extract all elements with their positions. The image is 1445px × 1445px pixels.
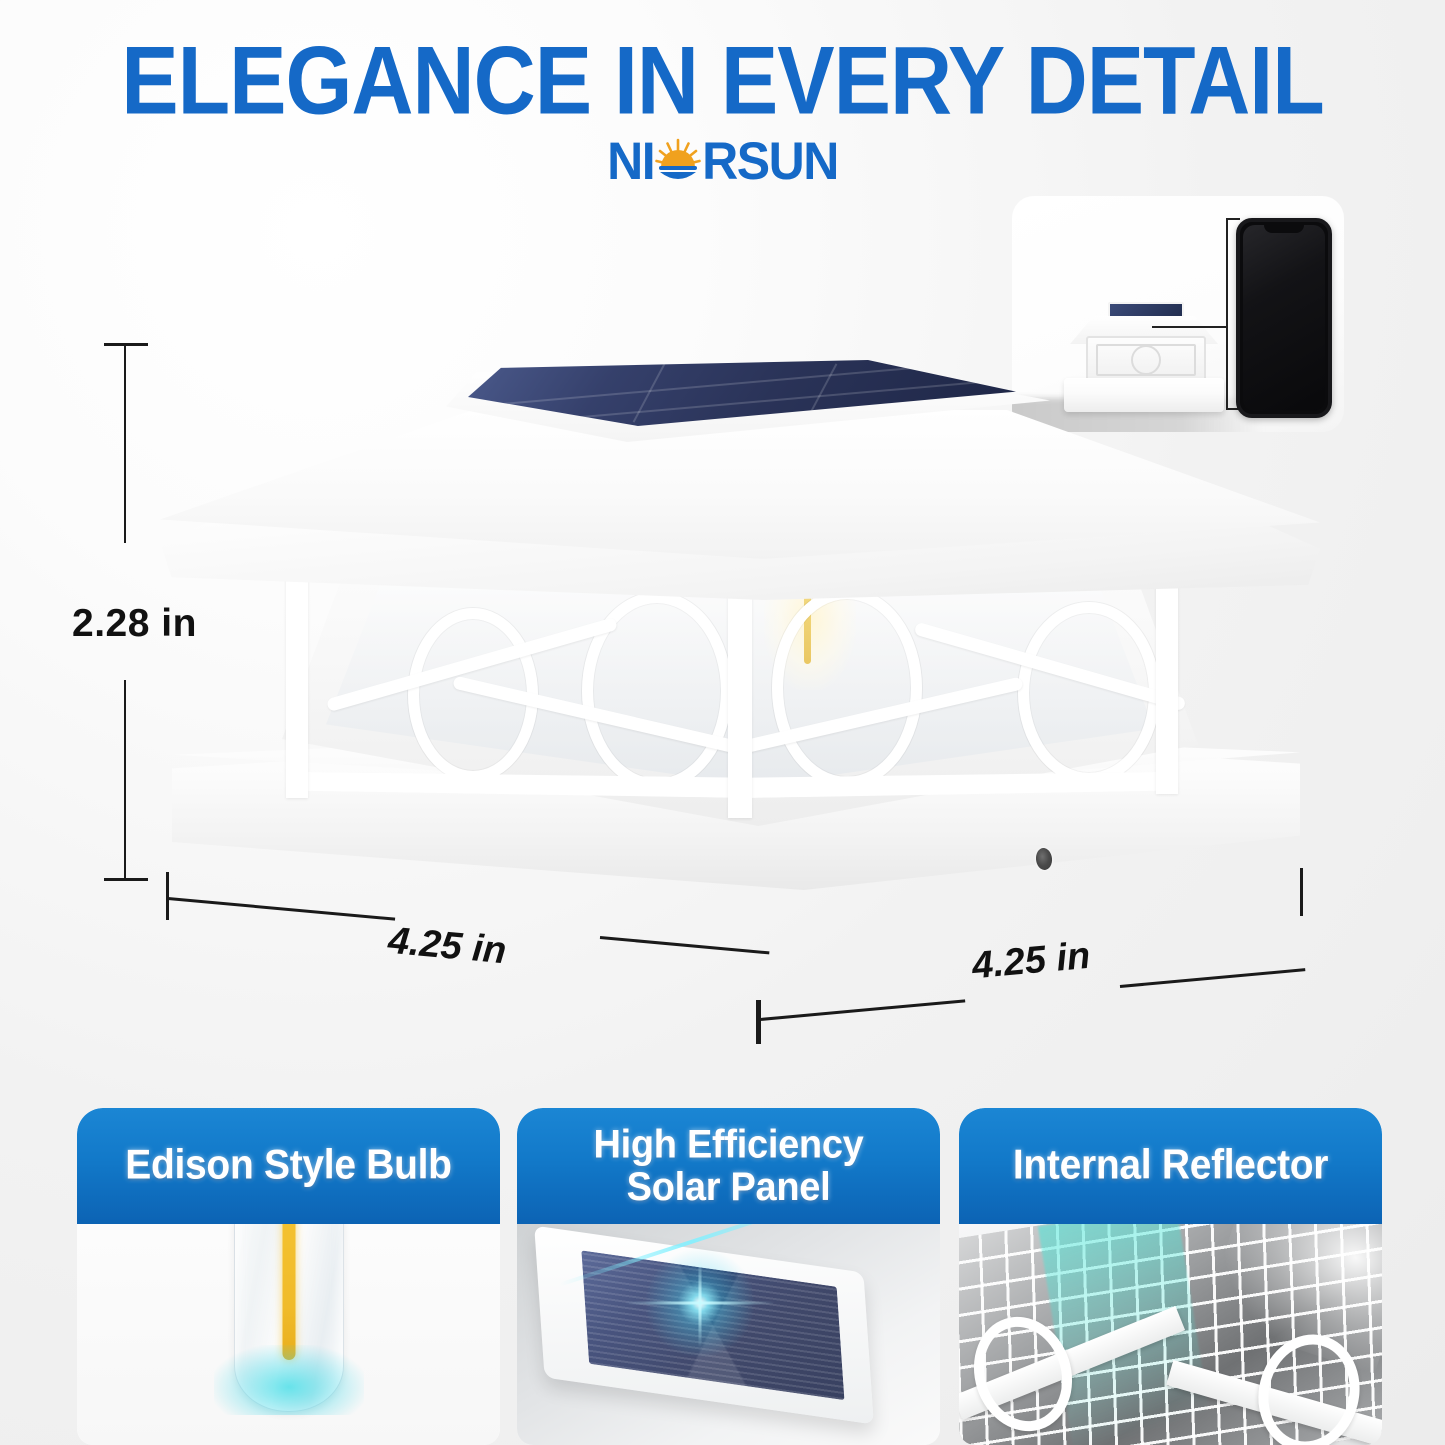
feature-title-line-1: High Efficiency [594, 1123, 864, 1166]
brand-logo: NI RSUN [0, 132, 1445, 190]
lattice-ring [772, 588, 922, 788]
feature-title-line-2: Solar Panel [594, 1166, 864, 1209]
height-dim-line-upper [124, 343, 126, 543]
bulb-filament-icon [282, 1224, 295, 1360]
feature-card-edison-style-bulb[interactable]: Edison Style Bulb [77, 1108, 500, 1445]
feature-card-high-efficiency-solar-panel[interactable]: High Efficiency Solar Panel [517, 1108, 940, 1445]
feature-banner: Edison Style Bulb [77, 1108, 500, 1224]
feature-card-internal-reflector[interactable]: Internal Reflector [959, 1108, 1382, 1445]
width-right-start-tick [758, 1000, 761, 1044]
height-dim-tick-top [104, 343, 148, 346]
height-dim-label: 2.28 in [72, 602, 197, 646]
feature-banner: Internal Reflector [959, 1108, 1382, 1224]
brand-logo-prefix: NI [607, 131, 654, 192]
feature-image-solar-panel [517, 1224, 940, 1445]
feature-image-edison-bulb [77, 1224, 500, 1445]
feature-title: High Efficiency Solar Panel [584, 1123, 874, 1208]
height-dim-tick-bottom [104, 878, 148, 881]
light-flare-icon [635, 1238, 765, 1368]
bulb-cyan-glow [214, 1345, 364, 1415]
feature-image-internal-reflector [959, 1224, 1382, 1445]
phone-notch [1264, 222, 1304, 233]
height-dim-line-lower [124, 680, 126, 880]
feature-title: Internal Reflector [1003, 1144, 1338, 1188]
solar-post-cap-light [150, 330, 1330, 1050]
inset-leader-line [1152, 326, 1228, 328]
brand-logo-suffix: RSUN [702, 131, 838, 192]
width-right-end-tick [1300, 868, 1303, 916]
feature-banner: High Efficiency Solar Panel [517, 1108, 940, 1224]
sunrise-icon [655, 137, 701, 185]
feature-title: Edison Style Bulb [115, 1144, 461, 1188]
infographic-canvas: ELEGANCE IN EVERY DETAIL NI RSUN [0, 0, 1445, 1445]
page-title: ELEGANCE IN EVERY DETAIL [0, 26, 1445, 137]
feature-cards: Edison Style Bulb High Efficiency Solar … [0, 1108, 1445, 1445]
